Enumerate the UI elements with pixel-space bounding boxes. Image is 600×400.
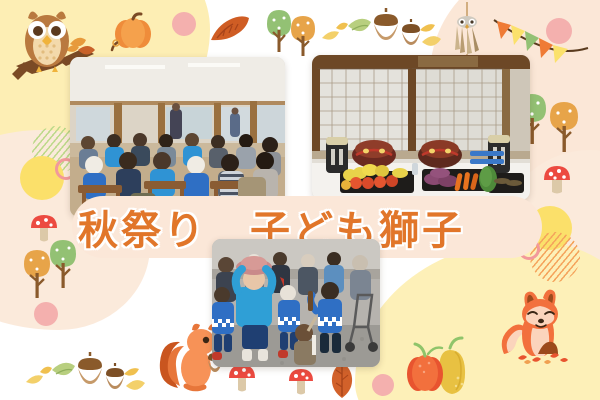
mushroom-icon	[228, 362, 256, 396]
pink-circle-icon	[34, 302, 58, 326]
maple-leaf-icon	[207, 14, 251, 44]
pumpkin-pair-icon	[398, 334, 482, 396]
mushroom-icon	[542, 162, 572, 198]
pink-circle-icon	[172, 12, 196, 36]
fox-sitting-icon	[498, 286, 584, 366]
tree-green-icon	[46, 238, 80, 290]
mushroom-icon	[288, 366, 314, 398]
photo-offering-table-image	[312, 55, 530, 200]
pumpkin-icon	[110, 12, 158, 52]
photo-children-happi-image	[212, 239, 380, 367]
tree-orange-icon	[288, 14, 318, 58]
autumn-festival-collage: 秋祭り 子ども獅子	[0, 0, 600, 400]
photo-hall-meeting-image	[70, 57, 285, 217]
photo-hall-meeting[interactable]	[70, 57, 285, 217]
pink-circle-icon	[372, 374, 394, 396]
acorn-cluster-icon	[318, 8, 442, 52]
photo-children-happi[interactable]	[212, 239, 380, 367]
tree-orange-icon	[546, 100, 582, 154]
photo-offering-table[interactable]	[312, 55, 530, 200]
acorn-cluster-icon	[22, 352, 146, 396]
